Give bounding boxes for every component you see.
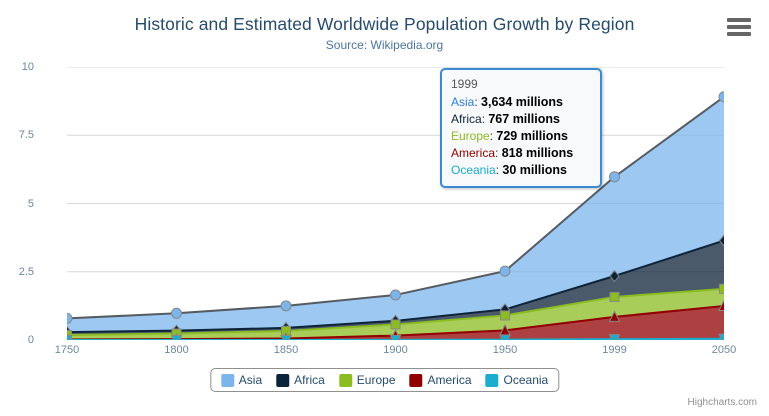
- point-marker-asia[interactable]: [391, 290, 401, 300]
- point-marker-asia[interactable]: [281, 301, 291, 311]
- x-axis-tick-label: 2050: [689, 344, 759, 356]
- y-axis-tick-label: 0: [0, 334, 34, 346]
- legend-item-america[interactable]: America: [410, 373, 472, 387]
- tooltip-series-value: 3,634 millions: [481, 95, 563, 109]
- x-axis-tick-label: 1800: [142, 344, 212, 356]
- point-marker-europe[interactable]: [501, 311, 510, 320]
- legend-item-africa[interactable]: Africa: [276, 373, 325, 387]
- tooltip-row: Asia: 3,634 millions: [451, 94, 591, 111]
- tooltip-series-value: 30 millions: [502, 163, 567, 177]
- chart-title: Historic and Estimated Worldwide Populat…: [0, 14, 769, 35]
- legend-item-oceania[interactable]: Oceania: [486, 373, 549, 387]
- tooltip-series-name: Africa: [451, 112, 482, 126]
- x-axis-tick-label: 1999: [580, 344, 650, 356]
- tooltip-series-name: America: [451, 146, 495, 160]
- tooltip-series-name: Oceania: [451, 163, 496, 177]
- tooltip-series-name: Asia: [451, 95, 474, 109]
- hamburger-menu-icon[interactable]: [727, 18, 751, 36]
- tooltip-rows: Asia: 3,634 millionsAfrica: 767 millions…: [451, 94, 591, 179]
- hamburger-bar: [727, 18, 751, 22]
- series-canvas: [67, 67, 724, 340]
- point-marker-europe[interactable]: [720, 284, 725, 293]
- highcharts-container: Historic and Estimated Worldwide Populat…: [0, 0, 769, 416]
- x-axis-tick-label: 1950: [470, 344, 540, 356]
- point-marker-asia[interactable]: [172, 308, 182, 318]
- legend-item-label: Asia: [239, 373, 262, 387]
- legend-swatch-icon: [221, 374, 234, 387]
- x-axis-tick-label: 1900: [361, 344, 431, 356]
- tooltip-row: Africa: 767 millions: [451, 111, 591, 128]
- point-marker-asia[interactable]: [610, 172, 620, 182]
- y-axis-tick-label: 5: [0, 198, 34, 210]
- tooltip-row: Oceania: 30 millions: [451, 162, 591, 179]
- credits-label[interactable]: Highcharts.com: [688, 397, 757, 408]
- point-marker-oceania[interactable]: [172, 335, 182, 340]
- x-axis-tick-label: 1750: [32, 344, 102, 356]
- tooltip-row: Europe: 729 millions: [451, 128, 591, 145]
- y-axis-tick-label: 7.5: [0, 129, 34, 141]
- point-marker-oceania[interactable]: [391, 335, 401, 340]
- tooltip: 1999 Asia: 3,634 millionsAfrica: 767 mil…: [440, 68, 602, 188]
- legend-swatch-icon: [410, 374, 423, 387]
- tooltip-series-value: 729 millions: [496, 129, 568, 143]
- legend: AsiaAfricaEuropeAmericaOceania: [210, 368, 559, 392]
- legend-swatch-icon: [486, 374, 499, 387]
- point-marker-europe[interactable]: [610, 292, 619, 301]
- tooltip-header: 1999: [451, 76, 591, 93]
- chart-subtitle: Source: Wikipedia.org: [0, 38, 769, 52]
- y-axis-tick-label: 10: [0, 61, 34, 73]
- tooltip-separator: :: [474, 95, 481, 109]
- point-marker-europe[interactable]: [391, 320, 400, 329]
- tooltip-separator: :: [495, 146, 502, 160]
- hamburger-bar: [727, 25, 751, 29]
- hamburger-bar: [727, 32, 751, 36]
- tooltip-series-name: Europe: [451, 129, 490, 143]
- tooltip-series-value: 767 millions: [488, 112, 560, 126]
- tooltip-row: America: 818 millions: [451, 145, 591, 162]
- tooltip-series-value: 818 millions: [502, 146, 574, 160]
- legend-item-asia[interactable]: Asia: [221, 373, 262, 387]
- legend-swatch-icon: [339, 374, 352, 387]
- legend-item-europe[interactable]: Europe: [339, 373, 396, 387]
- x-axis-tick-label: 1850: [251, 344, 321, 356]
- legend-item-label: America: [428, 373, 472, 387]
- legend-item-label: Africa: [294, 373, 325, 387]
- legend-item-label: Europe: [357, 373, 396, 387]
- legend-item-label: Oceania: [504, 373, 549, 387]
- point-marker-asia[interactable]: [500, 266, 510, 276]
- point-marker-oceania[interactable]: [281, 335, 291, 340]
- plot-area: [67, 67, 724, 340]
- y-axis-tick-label: 2.5: [0, 266, 34, 278]
- legend-swatch-icon: [276, 374, 289, 387]
